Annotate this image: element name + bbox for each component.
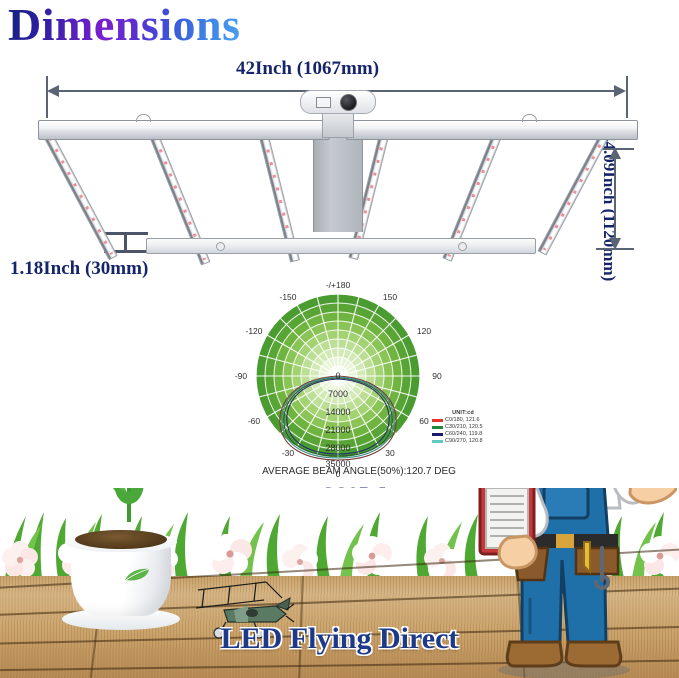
belt-buckle — [556, 534, 574, 548]
tool-pouch — [576, 548, 618, 574]
angle-tick: -120 — [245, 326, 262, 336]
led-bar — [537, 127, 612, 255]
blossom — [282, 544, 318, 579]
angle-tick: -30 — [282, 448, 295, 458]
dimmer-knob-icon[interactable] — [340, 94, 357, 111]
legend-item: C0/180, 121.6 — [432, 417, 494, 423]
overall-pocket — [544, 488, 588, 518]
legend-label: C90/270, 120.8 — [445, 438, 483, 444]
module-port-icon — [316, 97, 331, 108]
screwdriver-icon — [584, 542, 590, 572]
angle-tick: 150 — [383, 292, 397, 302]
blossom — [352, 536, 392, 575]
angle-tick: 60 — [419, 416, 429, 426]
angle-tick: -/+180 — [326, 280, 351, 290]
legend-label: C30/210, 120.5 — [445, 424, 483, 430]
legend-item: C60/240, 119.8 — [432, 431, 494, 437]
radial-tick: 28000 — [325, 443, 350, 453]
chart-legend: UNIT:cd C0/180, 121.6 C30/210, 120.5 C60… — [432, 410, 494, 444]
legend-unit-label: UNIT:cd — [432, 410, 494, 416]
legend-swatch-c30 — [432, 426, 443, 429]
beam-angle-caption: AVERAGE BEAM ANGLE(50%):120.7 DEG — [234, 466, 484, 477]
angle-tick: 30 — [385, 448, 395, 458]
lifestyle-scene: LED Flying Direct — [0, 488, 679, 678]
legend-swatch-c60 — [432, 433, 443, 436]
flower-pot — [62, 510, 180, 632]
blossom — [2, 541, 38, 577]
angle-tick: 120 — [417, 326, 431, 336]
product-infographic: Dimensions 42Inch (1067mm) 44.09Inch (11… — [0, 0, 679, 678]
module-plate — [300, 90, 376, 114]
radial-tick: 0 — [335, 371, 340, 381]
width-dimension-label: 42Inch (1067mm) — [236, 58, 379, 80]
angle-tick: -90 — [235, 371, 248, 381]
radial-tick: 21000 — [325, 425, 350, 435]
legend-swatch-c90 — [432, 440, 443, 443]
worker-waving-hand — [630, 488, 677, 503]
angle-tick: 90 — [432, 371, 442, 381]
blossom — [208, 534, 252, 574]
brand-name: LED Flying Direct — [0, 622, 679, 656]
led-grow-light-product-image — [38, 96, 636, 256]
page-title: Dimensions — [8, 0, 240, 51]
thickness-dimension-label: 1.18Inch (30mm) — [10, 258, 148, 280]
dimmer-control-module[interactable] — [300, 86, 374, 116]
legend-item: C90/270, 120.8 — [432, 438, 494, 444]
fixture-hanger-loop-icon — [136, 114, 151, 122]
legend-label: C0/180, 121.6 — [445, 417, 480, 423]
radial-tick: 7000 — [328, 389, 348, 399]
fixture-screw-icon — [458, 242, 467, 251]
led-bar — [43, 132, 118, 260]
polar-light-distribution-chart: 0 7000 14000 21000 28000 35000 -/+180 -1… — [228, 278, 478, 488]
fixture-bottom-rail — [146, 238, 536, 254]
radial-tick: 14000 — [325, 407, 350, 417]
angle-tick: -150 — [279, 292, 296, 302]
fixture-screw-icon — [216, 242, 225, 251]
polar-chart-svg: 0 7000 14000 21000 28000 35000 -/+180 -1… — [228, 278, 478, 488]
fixture-top-rail-left — [38, 120, 330, 140]
leaf-badge-icon — [124, 568, 150, 582]
angle-tick: -60 — [248, 416, 261, 426]
worker-hand-left — [499, 536, 536, 568]
fixture-hanger-loop-icon — [522, 114, 537, 122]
fixture-top-rail-right — [346, 120, 638, 140]
pot-soil — [75, 530, 167, 549]
legend-item: C30/210, 120.5 — [432, 424, 494, 430]
legend-label: C60/240, 119.8 — [445, 431, 482, 437]
legend-swatch-c0 — [432, 419, 443, 422]
